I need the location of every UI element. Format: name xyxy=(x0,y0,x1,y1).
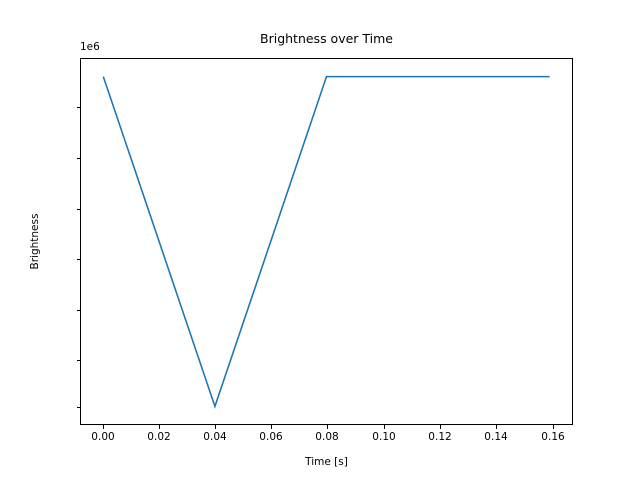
x-tick-label: 0.00 xyxy=(91,431,114,443)
y-tick-mark xyxy=(77,407,81,408)
x-tick-label: 0.04 xyxy=(203,431,226,443)
x-tick-mark xyxy=(215,425,216,429)
x-tick-mark xyxy=(440,425,441,429)
y-tick-mark xyxy=(77,310,81,311)
x-tick-mark xyxy=(327,425,328,429)
x-tick-label: 0.14 xyxy=(484,431,507,443)
matplotlib-figure: Brightness over Time 1e6 1.41.21.00.80.6… xyxy=(0,0,640,480)
x-tick-label: 0.08 xyxy=(315,431,338,443)
y-tick-mark xyxy=(77,209,81,210)
y-axis-label: Brightness xyxy=(28,58,42,425)
brightness-line-series xyxy=(103,77,549,407)
x-axis-label: Time [s] xyxy=(80,456,573,469)
x-tick-mark xyxy=(271,425,272,429)
x-tick-label: 0.12 xyxy=(428,431,451,443)
y-tick-mark xyxy=(77,158,81,159)
x-tick-mark xyxy=(496,425,497,429)
x-tick-label: 0.10 xyxy=(372,431,395,443)
x-tick-mark xyxy=(384,425,385,429)
y-axis-offset-label: 1e6 xyxy=(80,41,100,54)
chart-title: Brightness over Time xyxy=(80,31,573,47)
y-tick-mark xyxy=(77,259,81,260)
x-tick-mark xyxy=(103,425,104,429)
data-line-svg xyxy=(81,59,572,424)
x-tick-mark xyxy=(159,425,160,429)
x-tick-label: 0.16 xyxy=(541,431,564,443)
y-tick-mark xyxy=(77,107,81,108)
x-tick-label: 0.02 xyxy=(147,431,170,443)
x-tick-label: 0.06 xyxy=(259,431,282,443)
plot-area xyxy=(80,58,573,425)
x-tick-mark xyxy=(553,425,554,429)
y-tick-mark xyxy=(77,360,81,361)
